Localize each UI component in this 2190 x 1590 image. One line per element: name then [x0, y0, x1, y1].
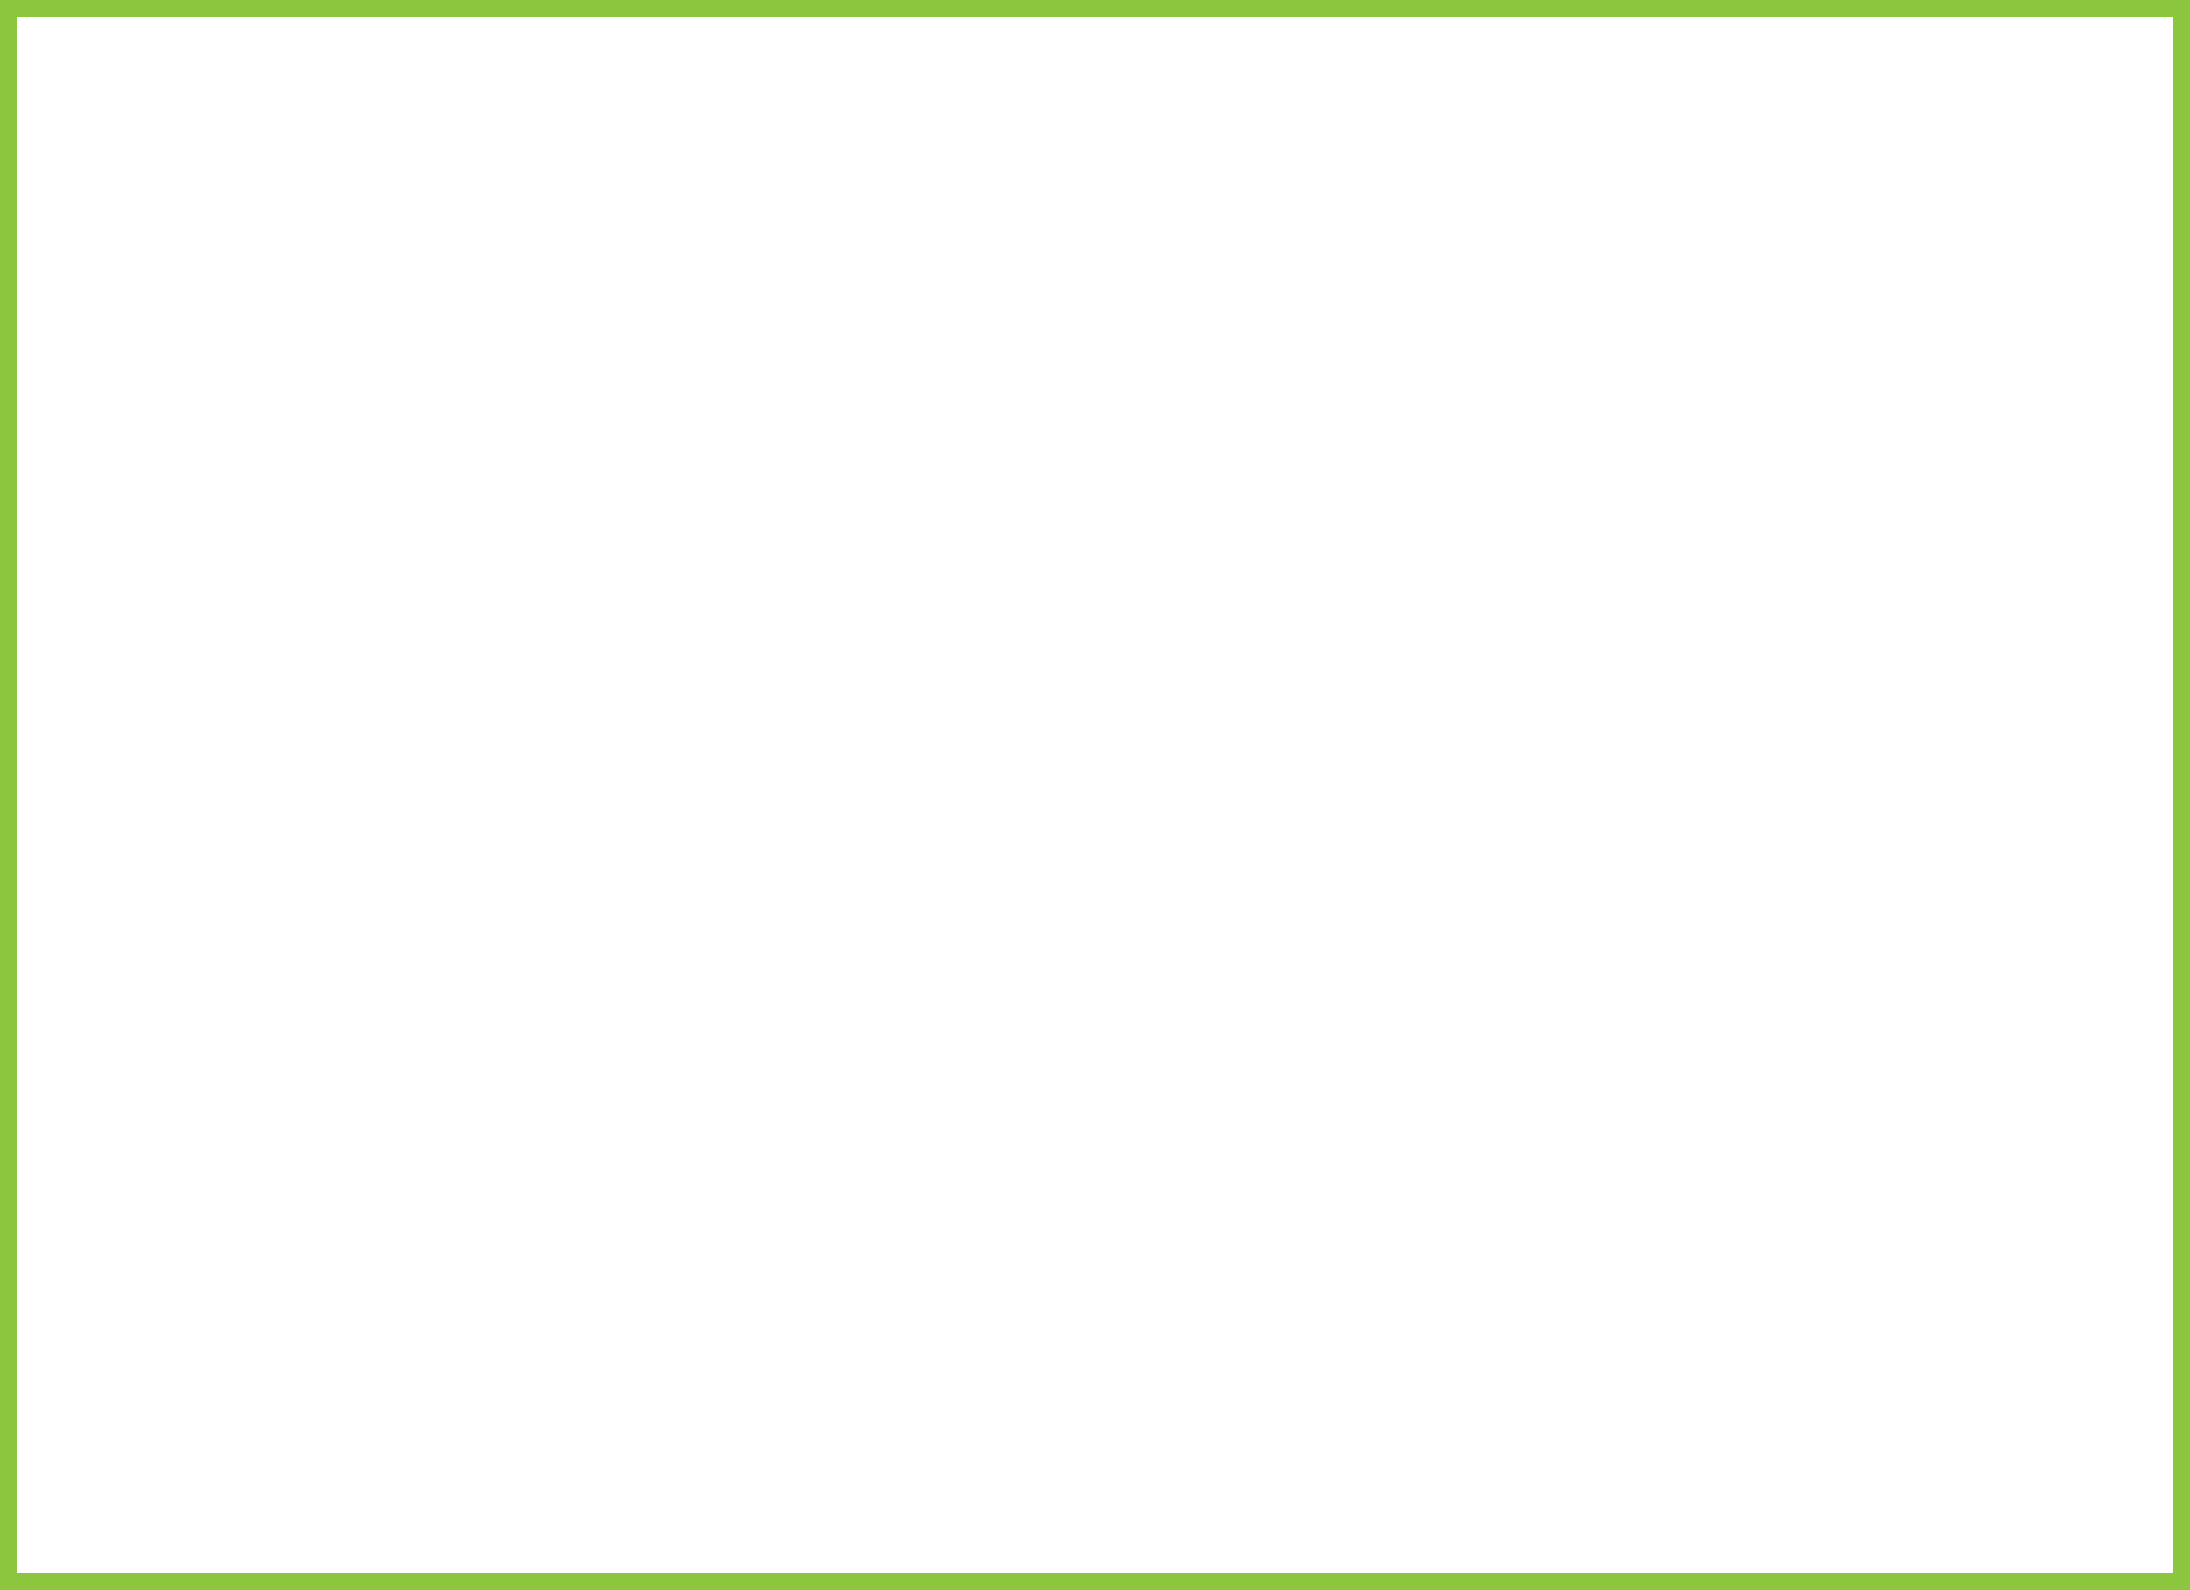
event-address: 145 W Harbor Ave: [1152, 1189, 2132, 1275]
headline-line-1: Guess WHOOOO is having: [52, 144, 2048, 251]
card-canvas: Guess WHOOOO is having a Baby Boy? Pleas…: [52, 52, 2138, 1538]
owl-left-eye-highlight: [319, 285, 341, 307]
footer-line-1: Lunch will be served.: [182, 1337, 2112, 1419]
join-line-1: Please join us for a shower: [1132, 540, 2122, 615]
footer-line-2: Carrie is registered at Target and Babie…: [182, 1419, 2112, 1509]
join-line-2: in honor of: [1132, 615, 2122, 690]
owl-right-eye-highlight: [409, 285, 431, 307]
event-time: 11:00 a.m.: [1152, 1018, 2132, 1104]
headline-line-2: a Baby Boy?: [512, 342, 2048, 449]
footer-block: Lunch will be served. Carrie is register…: [182, 1337, 2112, 1509]
invitation-card: Guess WHOOOO is having a Baby Boy? Pleas…: [0, 0, 2190, 1590]
event-date: Saturday, February 9th: [1152, 932, 2132, 1018]
event-venue: At Megan Brewer's House: [1152, 1104, 2132, 1190]
honoree-name: Carrie Whiting: [1132, 752, 2122, 838]
event-details-block: Saturday, February 9th 11:00 a.m. At Meg…: [1152, 932, 2132, 1275]
join-invitation-block: Please join us for a shower in honor of: [1132, 540, 2122, 690]
